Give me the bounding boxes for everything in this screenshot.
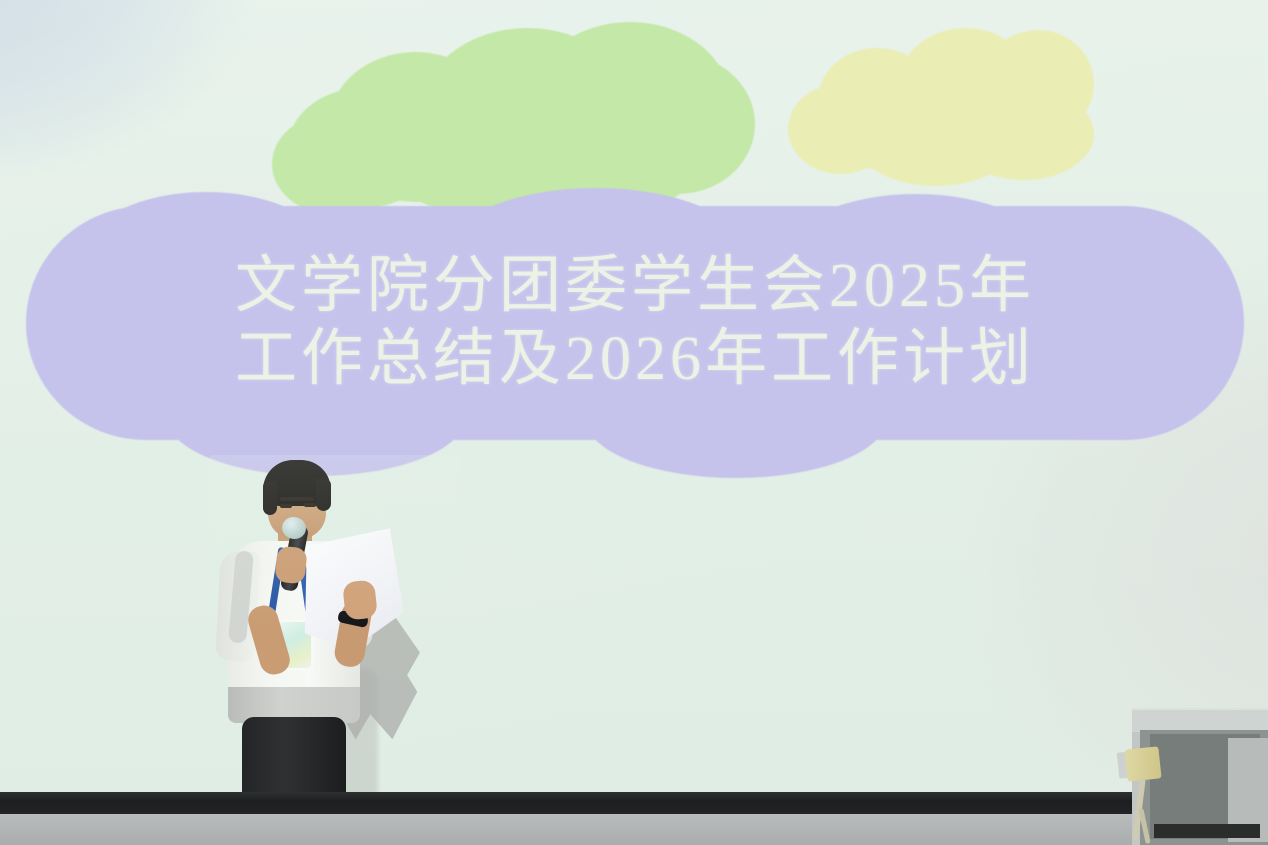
eyebrow: [280, 497, 314, 501]
screen-bottom-rail: [0, 792, 1268, 816]
lectern: [1132, 700, 1268, 845]
eye-right: [304, 503, 316, 507]
slide-title-line-1: 文学院分团委学生会2025年: [235, 255, 1035, 318]
lectern-shelf: [1154, 824, 1260, 838]
wall-below-screen: [0, 814, 1268, 845]
slide-title: 文学院分团委学生会2025年 工作总结及2026年工作计划: [26, 206, 1244, 440]
presentation-photo: 文学院分团委学生会2025年 工作总结及2026年工作计划: [0, 0, 1268, 845]
speaker: [210, 455, 460, 845]
hand-holding-paper: [342, 579, 378, 620]
green-cloud-decoration: [270, 18, 740, 208]
eye-left: [280, 504, 292, 508]
hand-holding-microphone: [274, 546, 308, 585]
slide-title-line-2: 工作总结及2026年工作计划: [235, 328, 1035, 391]
hair-sideburn-left: [263, 481, 277, 515]
cable-clamp: [1124, 746, 1161, 781]
hair-sideburn-right: [316, 479, 331, 511]
lectern-top-surface: [1132, 708, 1268, 732]
yellow-cloud-decoration: [786, 22, 1096, 190]
